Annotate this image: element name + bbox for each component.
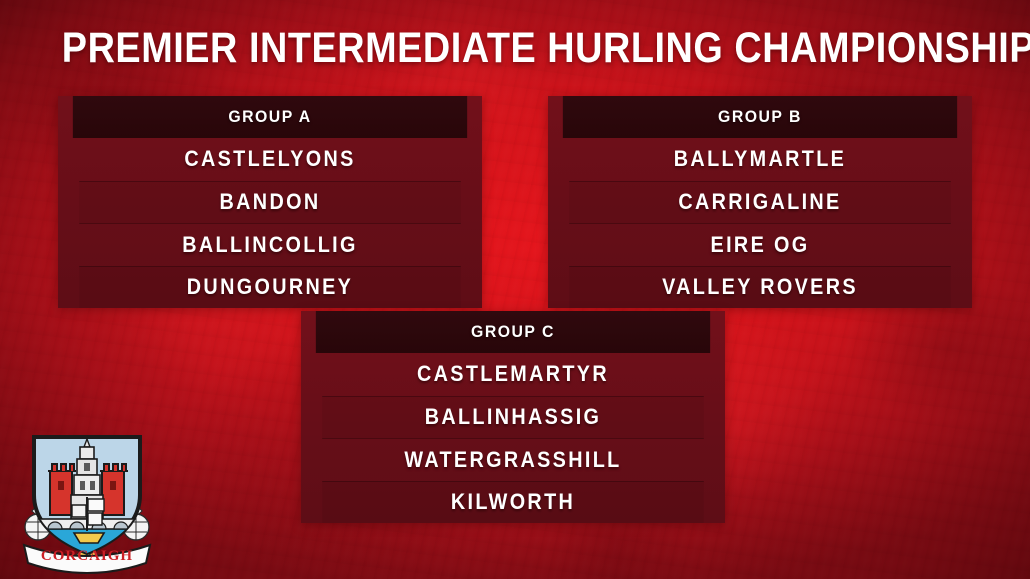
team-row: CASTLEMARTYR	[322, 353, 704, 396]
group-b-header: GROUP B	[563, 96, 957, 138]
team-row: BALLINCOLLIG	[79, 223, 461, 266]
team-row: BALLYMARTLE	[569, 138, 951, 181]
team-row: KILWORTH	[322, 481, 704, 524]
team-row: DUNGOURNEY	[79, 266, 461, 309]
group-a-header: GROUP A	[73, 96, 467, 138]
corcaigh-banner: CORCAIGH	[24, 545, 150, 573]
team-row: CARRIGALINE	[569, 181, 951, 224]
team-row: EIRE OG	[569, 223, 951, 266]
team-row: WATERGRASSHILL	[322, 438, 704, 481]
group-c-team-list: CASTLEMARTYR BALLINHASSIG WATERGRASSHILL…	[301, 353, 725, 523]
group-c-header: GROUP C	[316, 311, 710, 353]
group-b-team-list: BALLYMARTLE CARRIGALINE EIRE OG VALLEY R…	[548, 138, 972, 308]
group-panel-a: GROUP A CASTLELYONS BANDON BALLINCOLLIG …	[58, 96, 482, 308]
banner-label: CORCAIGH	[41, 548, 133, 564]
group-a-team-list: CASTLELYONS BANDON BALLINCOLLIG DUNGOURN…	[58, 138, 482, 308]
cork-gaa-crest-logo: CORCAIGH	[14, 423, 160, 575]
group-panel-c: GROUP C CASTLEMARTYR BALLINHASSIG WATERG…	[301, 311, 725, 523]
team-row: VALLEY ROVERS	[569, 266, 951, 309]
group-panel-b: GROUP B BALLYMARTLE CARRIGALINE EIRE OG …	[548, 96, 972, 308]
team-row: CASTLELYONS	[79, 138, 461, 181]
shield-icon	[32, 437, 144, 557]
team-row: BALLINHASSIG	[322, 396, 704, 439]
page-title: PREMIER INTERMEDIATE HURLING CHAMPIONSHI…	[62, 24, 968, 72]
team-row: BANDON	[79, 181, 461, 224]
